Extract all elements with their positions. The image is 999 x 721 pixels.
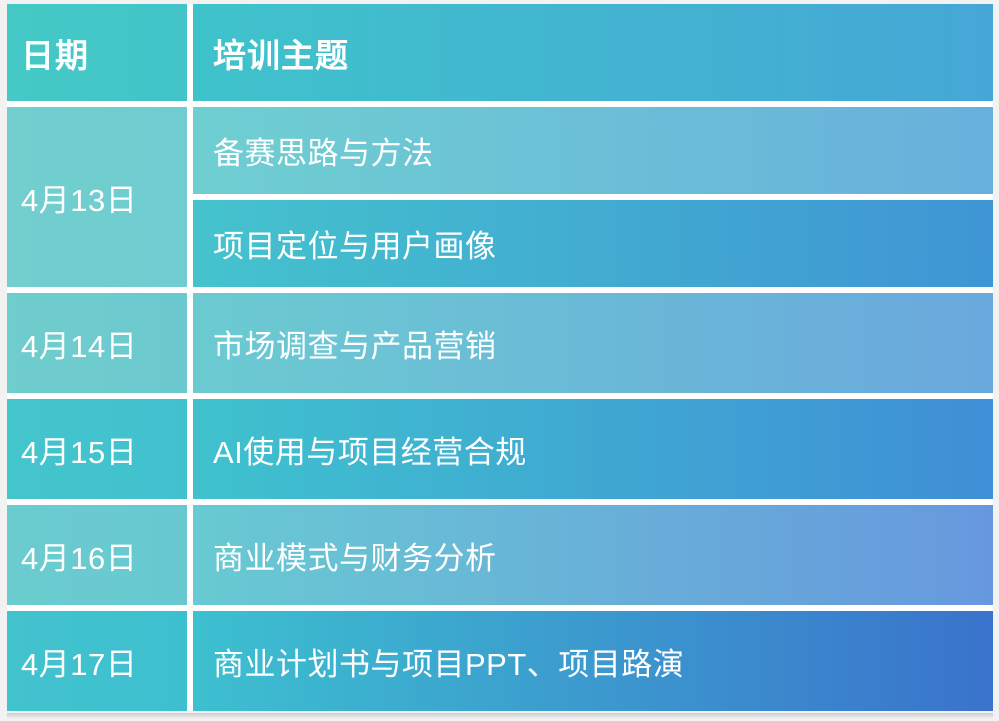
column-header-topic: 培训主题 <box>193 4 993 101</box>
training-schedule-table: 日期 培训主题 4月13日 备赛思路与方法 项目定位与用户画像 4月14日 市场… <box>7 4 993 711</box>
table-row: 4月16日 商业模式与财务分析 <box>7 505 993 605</box>
table-row-group: 4月13日 备赛思路与方法 项目定位与用户画像 <box>7 107 993 287</box>
table-row: 4月15日 AI使用与项目经营合规 <box>7 399 993 499</box>
date-cell: 4月17日 <box>7 611 187 711</box>
topic-stack: 备赛思路与方法 项目定位与用户画像 <box>193 107 993 287</box>
topic-cell: AI使用与项目经营合规 <box>193 399 993 499</box>
topic-cell: 项目定位与用户画像 <box>193 200 993 287</box>
date-cell: 4月14日 <box>7 293 187 393</box>
date-cell: 4月16日 <box>7 505 187 605</box>
date-cell: 4月13日 <box>7 107 187 287</box>
table-row: 4月14日 市场调查与产品营销 <box>7 293 993 393</box>
topic-cell: 商业模式与财务分析 <box>193 505 993 605</box>
date-cell: 4月15日 <box>7 399 187 499</box>
topic-cell: 备赛思路与方法 <box>193 107 993 194</box>
page-background: 日期 培训主题 4月13日 备赛思路与方法 项目定位与用户画像 4月14日 市场… <box>0 0 999 721</box>
table-row: 4月17日 商业计划书与项目PPT、项目路演 <box>7 611 993 711</box>
column-header-date: 日期 <box>7 4 187 101</box>
topic-cell: 商业计划书与项目PPT、项目路演 <box>193 611 993 711</box>
table-header-row: 日期 培训主题 <box>7 4 993 101</box>
topic-cell: 市场调查与产品营销 <box>193 293 993 393</box>
